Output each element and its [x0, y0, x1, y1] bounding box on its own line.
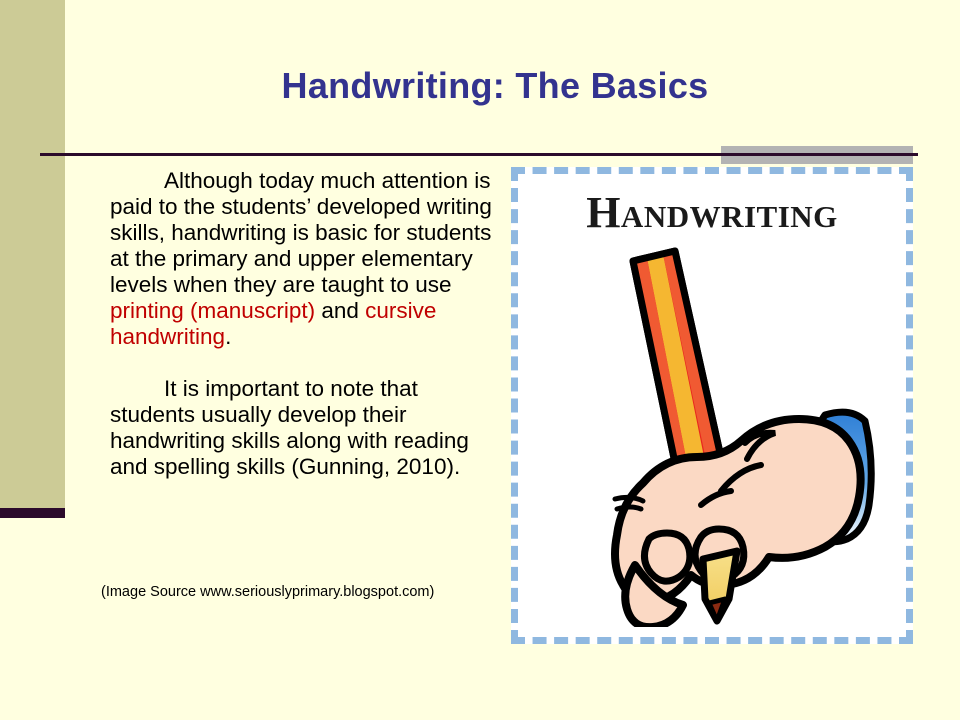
body-text-block: Although today much attention is paid to… — [110, 168, 500, 480]
sidebar-accent-bar — [0, 508, 65, 518]
fingertip-1 — [644, 533, 689, 581]
hand-writing-with-pencil-icon — [525, 247, 899, 627]
page-title: Handwriting: The Basics — [65, 66, 925, 106]
paragraph-1-part-1: Although today much attention is paid to… — [110, 168, 492, 297]
highlight-printing-manuscript: printing (manuscript) — [110, 298, 315, 323]
thumb-crease-2 — [617, 507, 641, 509]
paragraph-1: Although today much attention is paid to… — [110, 168, 500, 350]
title-divider-rule — [40, 153, 918, 156]
illustration-heading: Handwriting — [511, 187, 913, 238]
illustration-frame: Handwriting — [511, 167, 913, 644]
sidebar-decoration-bar — [0, 0, 65, 510]
image-source-caption: (Image Source www.seriouslyprimary.blogs… — [101, 585, 521, 601]
paragraph-1-part-3: . — [225, 324, 231, 349]
paragraph-1-part-2: and — [315, 298, 365, 323]
slide-canvas: Handwriting: The Basics Although today m… — [0, 0, 960, 720]
paragraph-2: It is important to note that students us… — [110, 376, 500, 480]
